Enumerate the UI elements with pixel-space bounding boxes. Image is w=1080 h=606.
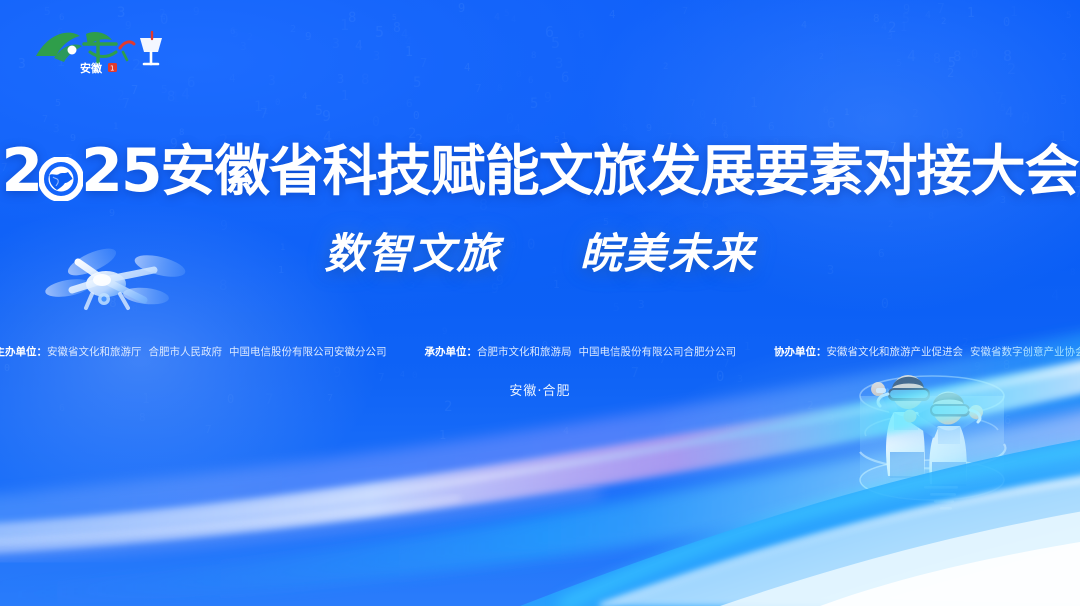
organizer-entity: 合肥市人民政府 [149, 346, 223, 358]
poster-canvas: 0741852963074185296307418529630741852963… [0, 0, 1080, 606]
organizer-label: 承办单位： [425, 346, 478, 358]
organizer-entity: 中国电信股份有限公司合肥分公司 [579, 346, 737, 358]
title-block: 2 25 安徽省科技赋能文旅发展要素对接大会 [0, 140, 1080, 202]
organizer-group: 承办单位：合肥市文化和旅游局中国电信股份有限公司合肥分公司 [425, 344, 737, 360]
vr-headset-figures [820, 352, 1050, 532]
svg-text:1: 1 [110, 65, 114, 73]
page-subtitle: 数智文旅 皖美未来 [324, 228, 755, 280]
organizer-entity: 合肥市文化和旅游局 [477, 346, 572, 358]
organizer-label: 主办单位： [0, 346, 47, 358]
organizer-group: 主办单位：安徽省文化和旅游厅合肥市人民政府中国电信股份有限公司安徽分公司 [0, 344, 387, 360]
event-location: 安徽·合肥 [509, 384, 570, 399]
subtitle-block: 数智文旅 皖美未来 [0, 228, 1080, 280]
organizer-entity: 安徽省文化和旅游厅 [47, 346, 142, 358]
globe-icon [39, 151, 83, 195]
organizer-entity: 中国电信股份有限公司安徽分公司 [229, 346, 387, 358]
subtitle-right: 皖美未来 [580, 229, 756, 278]
page-title: 2 25 安徽省科技赋能文旅发展要素对接大会 [1, 140, 1078, 202]
logo-subtext: 安徽 [80, 61, 103, 75]
title-year-prefix: 2 [1, 140, 41, 202]
organizer-label: 协办单位： [774, 346, 827, 358]
brand-logo[interactable]: 安徽 1 [28, 22, 178, 78]
subtitle-left: 数智文旅 [324, 229, 500, 278]
title-main-text: 安徽省科技赋能文旅发展要素对接大会 [161, 140, 1079, 202]
title-year-suffix: 25 [81, 140, 161, 202]
